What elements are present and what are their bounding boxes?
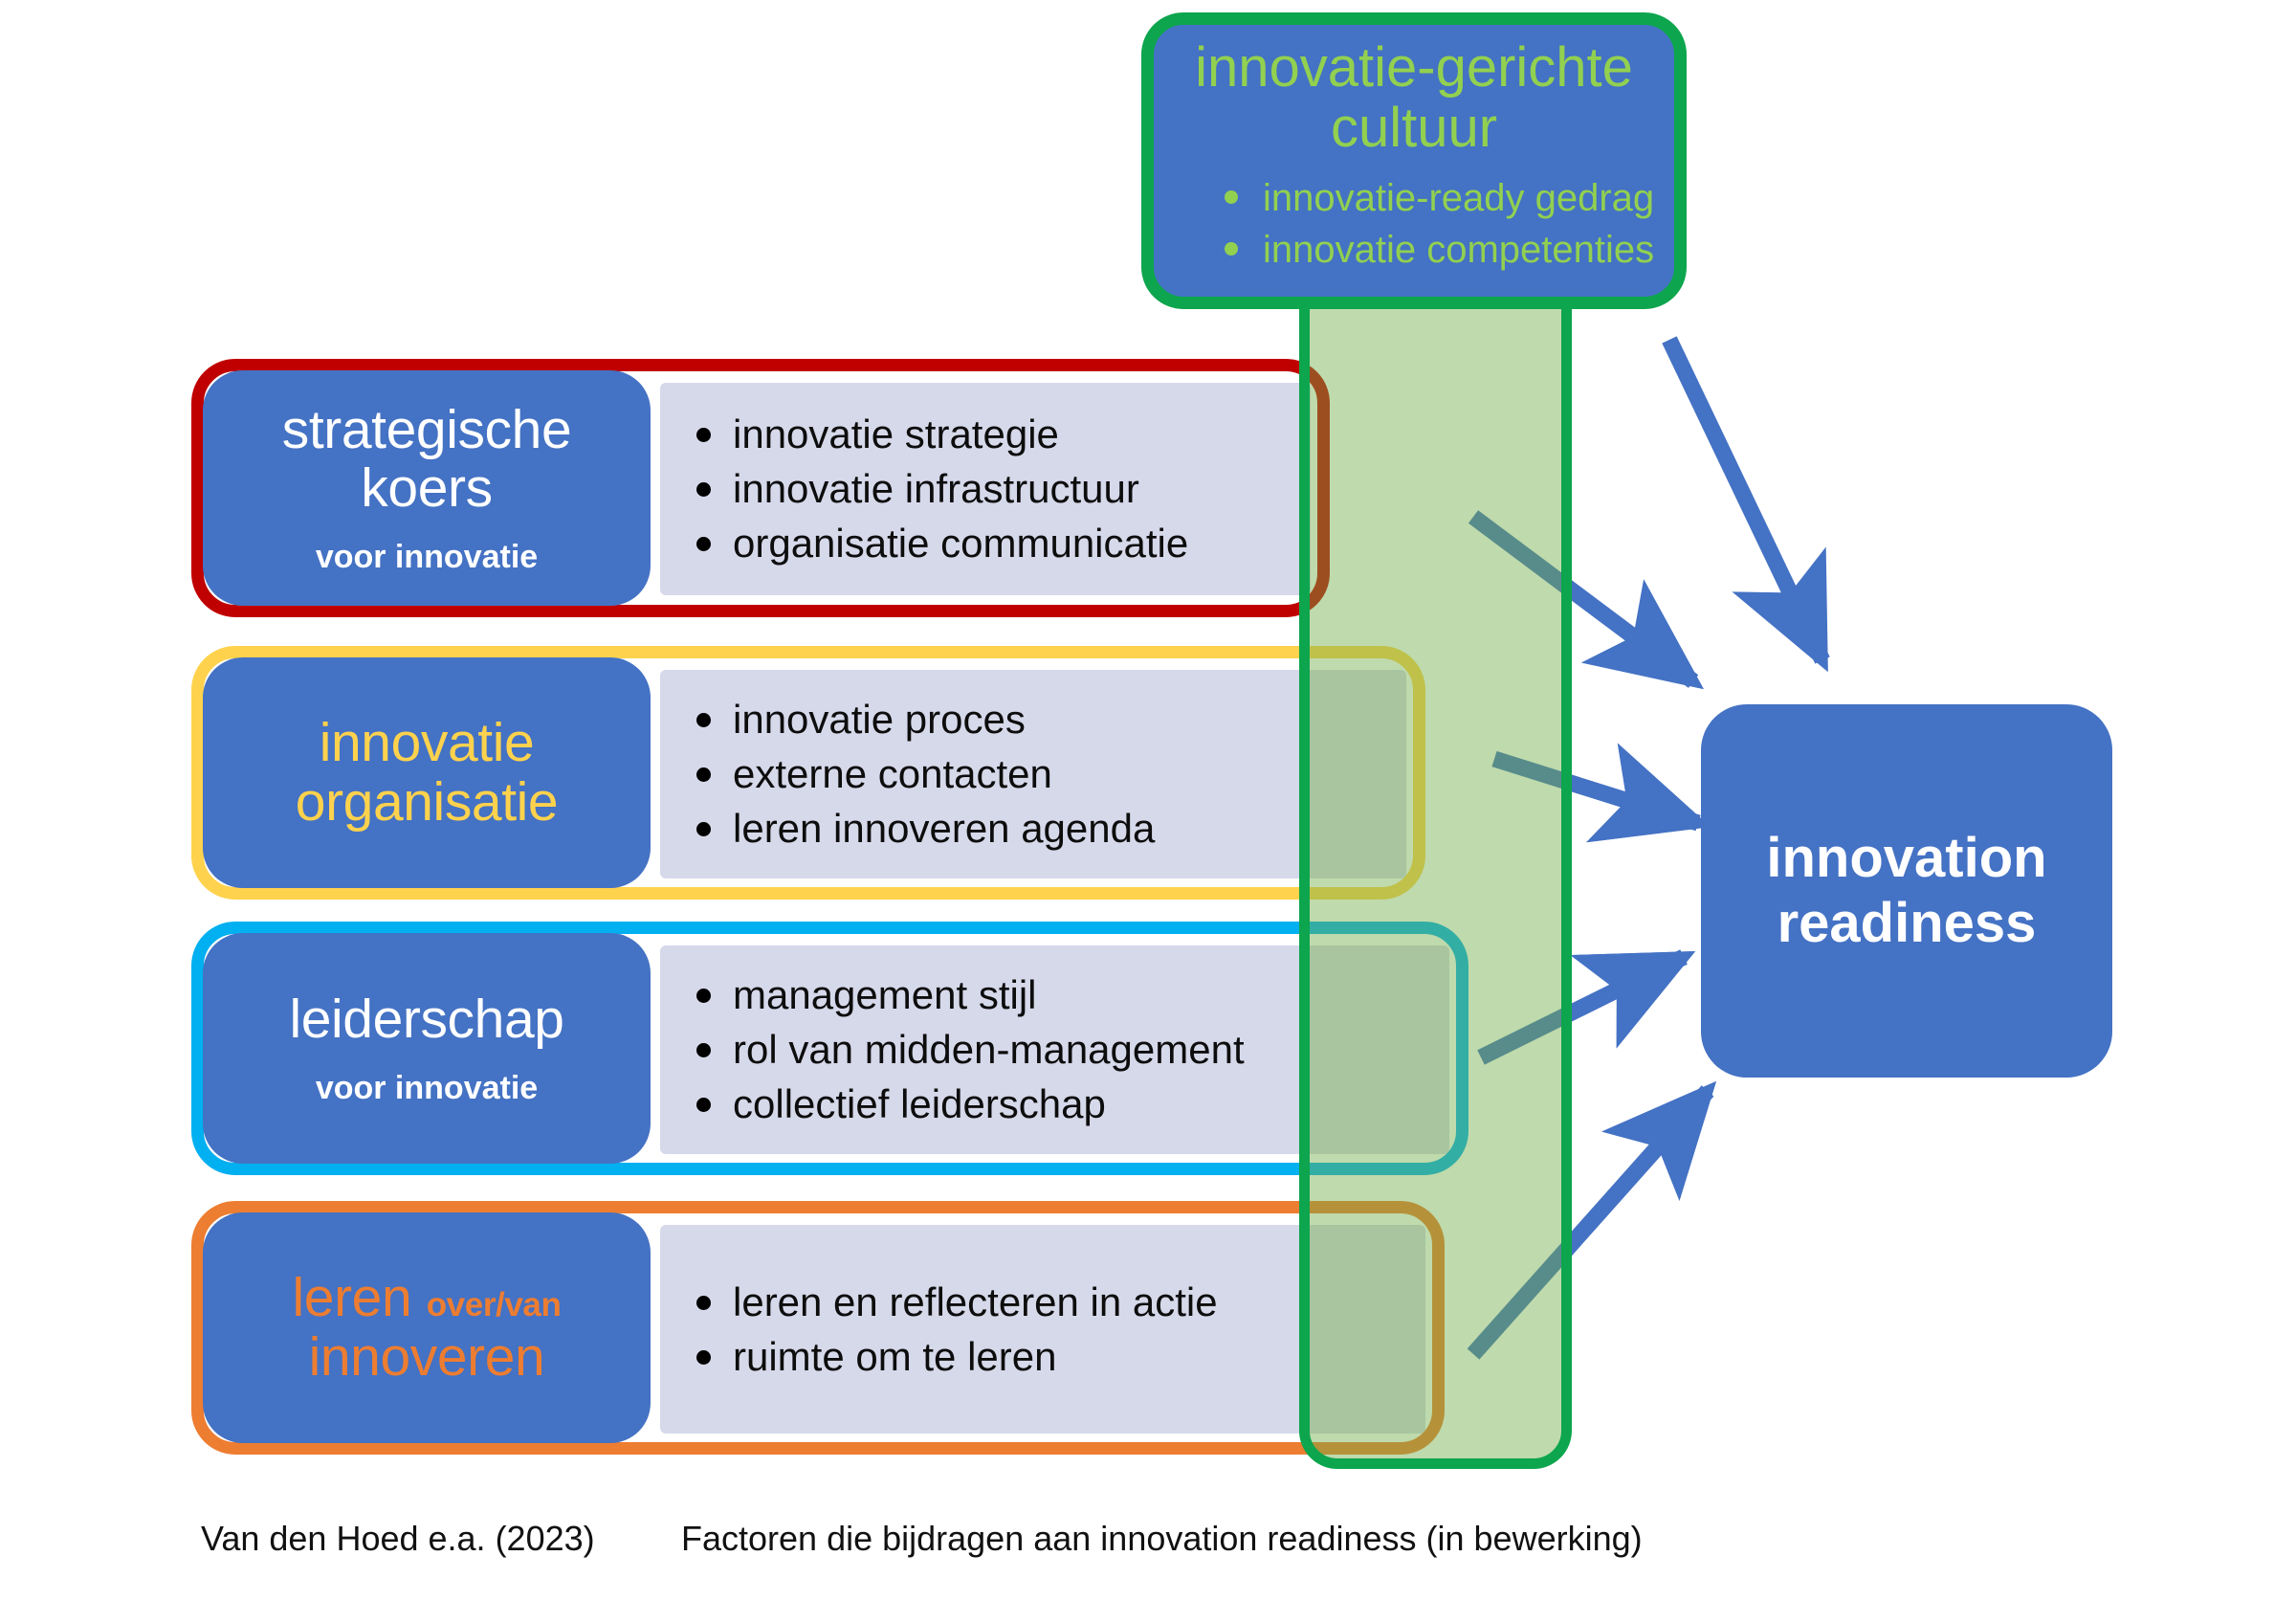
innovation-readiness-box[interactable]: innovation readiness [1701, 704, 2112, 1078]
arrow-leren-innoveren-to-readiness-top [1473, 1091, 1708, 1354]
list-item: innovatie competenties [1217, 225, 1649, 275]
list-item: innovatie-ready gedrag [1217, 173, 1649, 223]
outcome-line-2: readiness [1777, 892, 2037, 954]
innovation-culture-box[interactable]: innovatie-gerichte cultuur innovatie-rea… [1141, 12, 1687, 309]
arrow-innovatie-organisatie-to-readiness-top [1494, 759, 1698, 823]
caption-title: Factoren die bijdragen aan innovation re… [681, 1519, 1643, 1559]
arrow-leiderschap-to-readiness-top [1481, 957, 1684, 1057]
culture-title-line-2: cultuur [1331, 97, 1497, 159]
culture-title: innovatie-gerichte cultuur [1179, 38, 1649, 158]
culture-title-line-1: innovatie-gerichte [1195, 36, 1633, 99]
diagram-canvas: innovatie strategie innovatie infrastruc… [0, 0, 2296, 1623]
outcome-text: innovation readiness [1766, 826, 2046, 957]
caption-source: Van den Hoed e.a. (2023) [201, 1519, 595, 1559]
arrow-culture-to-readiness [1669, 340, 1822, 660]
culture-bullet-list: innovatie-ready gedrag innovatie compete… [1179, 173, 1649, 275]
arrow-strategische-koers-to-readiness-top [1473, 517, 1693, 681]
outcome-line-1: innovation [1766, 827, 2046, 889]
